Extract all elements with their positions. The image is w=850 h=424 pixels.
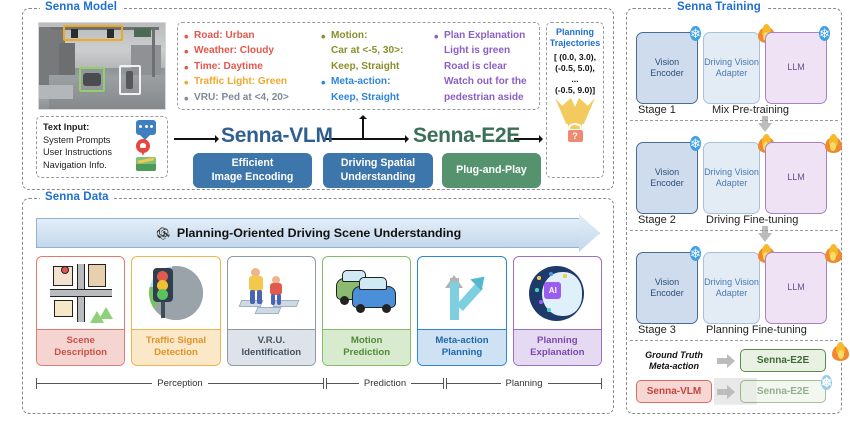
card5-line2: Planning xyxy=(442,347,483,358)
card3-line2: Identification xyxy=(241,347,301,358)
gt-line1: Ground Truth xyxy=(645,350,703,360)
street-sign xyxy=(134,28,151,37)
senna-training-content: Vision Encoder ❄ Driving Vision Adapter … xyxy=(626,8,842,414)
card2-line1: Traffic Signal xyxy=(146,335,206,346)
openai-swirl-icon xyxy=(155,226,170,241)
card4-line2: Prediction xyxy=(343,347,390,358)
arrow-gt-to-e2e xyxy=(717,354,735,368)
card6-line1: Planning xyxy=(537,335,578,346)
trajectory-fan-icon: ? xyxy=(555,98,595,142)
cap2-line1: Driving Spatial xyxy=(341,157,415,169)
bracket-planning: Planning xyxy=(446,378,602,389)
trajectory-value-3: (-0.5, 9.0)] xyxy=(547,85,603,96)
senna-vlm-box: Senna-VLM xyxy=(636,380,712,403)
stage1-ve-label: Vision Encoder xyxy=(637,57,697,80)
stage1-driving-vision-adapter: Driving Vision Adapter xyxy=(703,32,760,104)
bullet-column-1: ••••• xyxy=(184,28,194,109)
trajectory-value-1: [ (0.0, 3.0), xyxy=(547,52,603,63)
gt-line2: Meta-action xyxy=(649,361,699,371)
ai-brain-icon: AI xyxy=(526,264,588,322)
training-stage-1-modules: Vision Encoder ❄ Driving Vision Adapter … xyxy=(636,24,832,112)
card-art-4 xyxy=(323,257,410,329)
banner-body: Planning-Oriented Driving Scene Understa… xyxy=(36,218,580,248)
bracket-label-perception: Perception xyxy=(152,378,207,389)
trajectory-ellipsis: ... xyxy=(547,74,603,85)
card5-line1: Meta-action xyxy=(435,335,488,346)
planning-trajectories-box: Planning Trajectories [ (0.0, 3.0), (-0.… xyxy=(546,22,604,178)
stage2-driving-vision-adapter: Driving Vision Adapter xyxy=(703,142,760,214)
text-input-icons xyxy=(136,120,162,171)
attr-plan-line-4: pedestrian aside xyxy=(444,90,527,105)
senna-vlm-label: Senna-VLM xyxy=(221,124,333,148)
stage3-vision-encoder: Vision Encoder ❄ xyxy=(636,252,698,324)
attr-meta-value: Keep, Straight xyxy=(331,90,403,105)
card-art-2 xyxy=(132,257,219,329)
senna-e2e-box-inference: Senna-E2E ❄ xyxy=(740,380,826,403)
card-scene-description[interactable]: Scene Description xyxy=(36,256,125,366)
cap1-line1: Efficient xyxy=(232,157,274,169)
stage2-llm-label: LLM xyxy=(787,172,805,184)
attr-weather: Weather: Cloudy xyxy=(194,43,289,58)
stage-1-label: Stage 1 xyxy=(638,104,676,116)
snowflake-icon: ❄ xyxy=(821,373,832,395)
stage-3-label: Stage 3 xyxy=(638,324,676,336)
stage2-ad-label: Driving Vision Adapter xyxy=(704,167,759,190)
sidewalk xyxy=(39,85,73,99)
bracket-label-prediction: Prediction xyxy=(359,378,411,389)
card4-line1: Motion xyxy=(351,335,382,346)
stage-divider-3 xyxy=(630,340,838,341)
attr-plan-line-3: Watch out for the xyxy=(444,74,527,89)
senna-data-content: Planning-Oriented Driving Scene Understa… xyxy=(22,198,614,414)
bracket-perception: Perception xyxy=(36,378,324,389)
stage3-llm-label: LLM xyxy=(787,282,805,294)
stage-1-name: Mix Pre-training xyxy=(712,104,789,116)
figure-root: Senna Model Text Input: System Prompts xyxy=(0,0,850,424)
driving-scene-image xyxy=(38,22,166,110)
chat-bubble-icon xyxy=(136,120,156,135)
map-pin-icon xyxy=(136,139,150,156)
attributes-column-1: ••••• Road: Urban Weather: Cloudy Time: … xyxy=(184,28,321,109)
card-label-4: Motion Prediction xyxy=(323,329,410,365)
arrow-input-to-vlm xyxy=(174,138,218,140)
planning-trajectories-title-2: Trajectories xyxy=(547,38,603,49)
stage3-ve-label: Vision Encoder xyxy=(637,277,697,300)
card-motion-prediction[interactable]: Motion Prediction xyxy=(322,256,411,366)
stage2-llm: LLM xyxy=(765,142,827,214)
stage3-llm: LLM xyxy=(765,252,827,324)
map-icon xyxy=(136,157,156,171)
e2e-label-2: Senna-E2E xyxy=(757,386,809,397)
stage-2-name: Driving Fine-tuning xyxy=(706,214,798,226)
attr-vru: VRU: Ped at <4, 20> xyxy=(194,90,289,105)
bbox-pedestrian xyxy=(119,65,141,95)
cap3-line1: Plug-and-Play xyxy=(456,164,527,178)
two-cars-icon xyxy=(336,264,398,322)
attr-traffic-light: Traffic Light: Green xyxy=(194,74,289,89)
senna-e2e-box-train: Senna-E2E xyxy=(740,349,826,372)
attributes-column-3: • Plan Explanation Light is green Road i… xyxy=(434,28,527,109)
banner-text: Planning-Oriented Driving Scene Understa… xyxy=(177,226,461,240)
card3-line1: V.R.U. xyxy=(258,335,285,346)
planning-oriented-banner: Planning-Oriented Driving Scene Understa… xyxy=(36,218,600,248)
senna-e2e-label: Senna-E2E xyxy=(413,124,520,148)
training-stage-3-modules: Vision Encoder ❄ Driving Vision Adapter … xyxy=(636,244,832,332)
task-cards: Scene Description xyxy=(36,256,602,366)
card-label-3: V.R.U. Identification xyxy=(228,329,315,365)
arrow-vlm-to-e2e xyxy=(324,138,408,140)
capability-driving-spatial-understanding: Driving SpatialUnderstanding xyxy=(323,153,433,188)
text-input-box: Text Input: System Prompts User Instruct… xyxy=(36,116,168,178)
scene-attributes-box: ••••• Road: Urban Weather: Cloudy Time: … xyxy=(177,22,540,110)
inference-block: ███ Ground Truth Meta-action Senna-E2E S… xyxy=(636,348,832,410)
stage-divider-1 xyxy=(630,120,838,121)
attr-plan-explanation: Plan Explanation xyxy=(444,28,527,43)
attribute-lines-3: Plan Explanation Light is green Road is … xyxy=(444,28,527,109)
trajectory-value-2: (-0.5, 5.0), xyxy=(547,63,603,74)
pedestrian-crossing-icon xyxy=(240,264,302,322)
e2e-label-1: Senna-E2E xyxy=(757,355,809,366)
snowflake-icon: ❄ xyxy=(815,24,834,43)
card-art-5 xyxy=(418,257,505,329)
arrow-vlm-to-e2e-bottom xyxy=(717,385,735,399)
capability-plug-and-play: Plug-and-Play xyxy=(442,153,541,188)
card-label-5: Meta-action Planning xyxy=(418,329,505,365)
card1-line2: Description xyxy=(54,347,107,358)
stage3-ad-label: Driving Vision Adapter xyxy=(704,277,759,300)
bracket-prediction: Prediction xyxy=(326,378,444,389)
attribute-lines-2: Motion: Car at <-5, 30>: Keep, Straight … xyxy=(331,28,403,109)
chat-dots xyxy=(139,125,153,128)
attributes-column-2: ••••• Motion: Car at <-5, 30>: Keep, Str… xyxy=(321,28,434,109)
stage1-vision-encoder: Vision Encoder ❄ xyxy=(636,32,698,104)
banner-arrow-head xyxy=(579,214,600,252)
arrow-stage1-to-stage2 xyxy=(758,116,772,132)
stage2-vision-encoder: Vision Encoder ❄ xyxy=(636,142,698,214)
planning-trajectories-title-1: Planning xyxy=(547,27,603,38)
card-planning-explanation[interactable]: AI Planning Explanation xyxy=(513,256,602,366)
capability-efficient-image-encoding: EfficientImage Encoding xyxy=(193,153,312,188)
attr-motion: Motion: xyxy=(331,28,403,43)
gantry-pole xyxy=(152,27,155,77)
attr-plan-line-2: Road is clear xyxy=(444,59,527,74)
branching-arrows-icon xyxy=(431,264,493,322)
card-art-6: AI xyxy=(514,257,601,329)
stage-3-name: Planning Fine-tuning xyxy=(706,324,807,336)
bracket-label-planning: Planning xyxy=(501,378,548,389)
card-label-1: Scene Description xyxy=(37,329,124,365)
card1-line1: Scene xyxy=(67,335,95,346)
card6-line2: Explanation xyxy=(530,347,584,358)
attribute-lines-1: Road: Urban Weather: Cloudy Time: Daytim… xyxy=(194,28,289,109)
attr-road: Road: Urban xyxy=(194,28,289,43)
stage1-llm: LLM ❄ xyxy=(765,32,827,104)
fire-icon xyxy=(815,134,834,153)
stage-brackets: Perception Prediction Planning xyxy=(36,370,602,392)
stage1-ad-label: Driving Vision Adapter xyxy=(704,57,759,80)
card2-line2: Detection xyxy=(154,347,198,358)
fire-icon xyxy=(815,244,834,263)
bullet-column-2: ••••• xyxy=(321,28,331,109)
arrow-attributes-to-flow xyxy=(362,116,364,139)
card-label-6: Planning Explanation xyxy=(514,329,601,365)
stage-divider-2 xyxy=(630,230,838,231)
stage-2-label: Stage 2 xyxy=(638,214,676,226)
card-traffic-signal-detection[interactable]: Traffic Signal Detection xyxy=(131,256,220,366)
inference-row: Senna-VLM Senna-E2E ❄ xyxy=(636,379,832,404)
cap2-line2: Understanding xyxy=(341,171,416,183)
arrow-stage2-to-stage3 xyxy=(758,226,772,242)
stage1-llm-label: LLM xyxy=(787,62,805,74)
bbox-traffic-light xyxy=(63,25,123,41)
cap1-line2: Image Encoding xyxy=(212,171,294,183)
vlm-label-bottom: Senna-VLM xyxy=(647,386,701,397)
city-map-icon xyxy=(50,264,112,322)
stage2-ve-label: Vision Encoder xyxy=(637,167,697,190)
stage3-driving-vision-adapter: Driving Vision Adapter xyxy=(703,252,760,324)
bullet-column-3: • xyxy=(434,28,444,109)
attr-motion-car: Car at <-5, 30>: xyxy=(331,43,403,58)
attr-plan-line-1: Light is green xyxy=(444,43,527,58)
card-art-3 xyxy=(228,257,315,329)
card-meta-action-planning[interactable]: Meta-action Planning xyxy=(417,256,506,366)
ground-truth-row: Ground Truth Meta-action Senna-E2E xyxy=(636,348,832,373)
attr-time: Time: Daytime xyxy=(194,59,289,74)
ground-truth-label: Ground Truth Meta-action xyxy=(636,350,712,372)
card-vru-identification[interactable]: V.R.U. Identification xyxy=(227,256,316,366)
training-stage-2-modules: Vision Encoder ❄ Driving Vision Adapter … xyxy=(636,134,832,222)
bbox-vehicle xyxy=(79,67,105,92)
card-art-1 xyxy=(37,257,124,329)
attr-meta-action: Meta-action: xyxy=(331,74,403,89)
senna-model-content: Text Input: System Prompts User Instruct… xyxy=(22,8,614,190)
card-label-2: Traffic Signal Detection xyxy=(132,329,219,365)
traffic-light-icon xyxy=(145,264,207,322)
attr-motion-action: Keep, Straight xyxy=(331,59,403,74)
